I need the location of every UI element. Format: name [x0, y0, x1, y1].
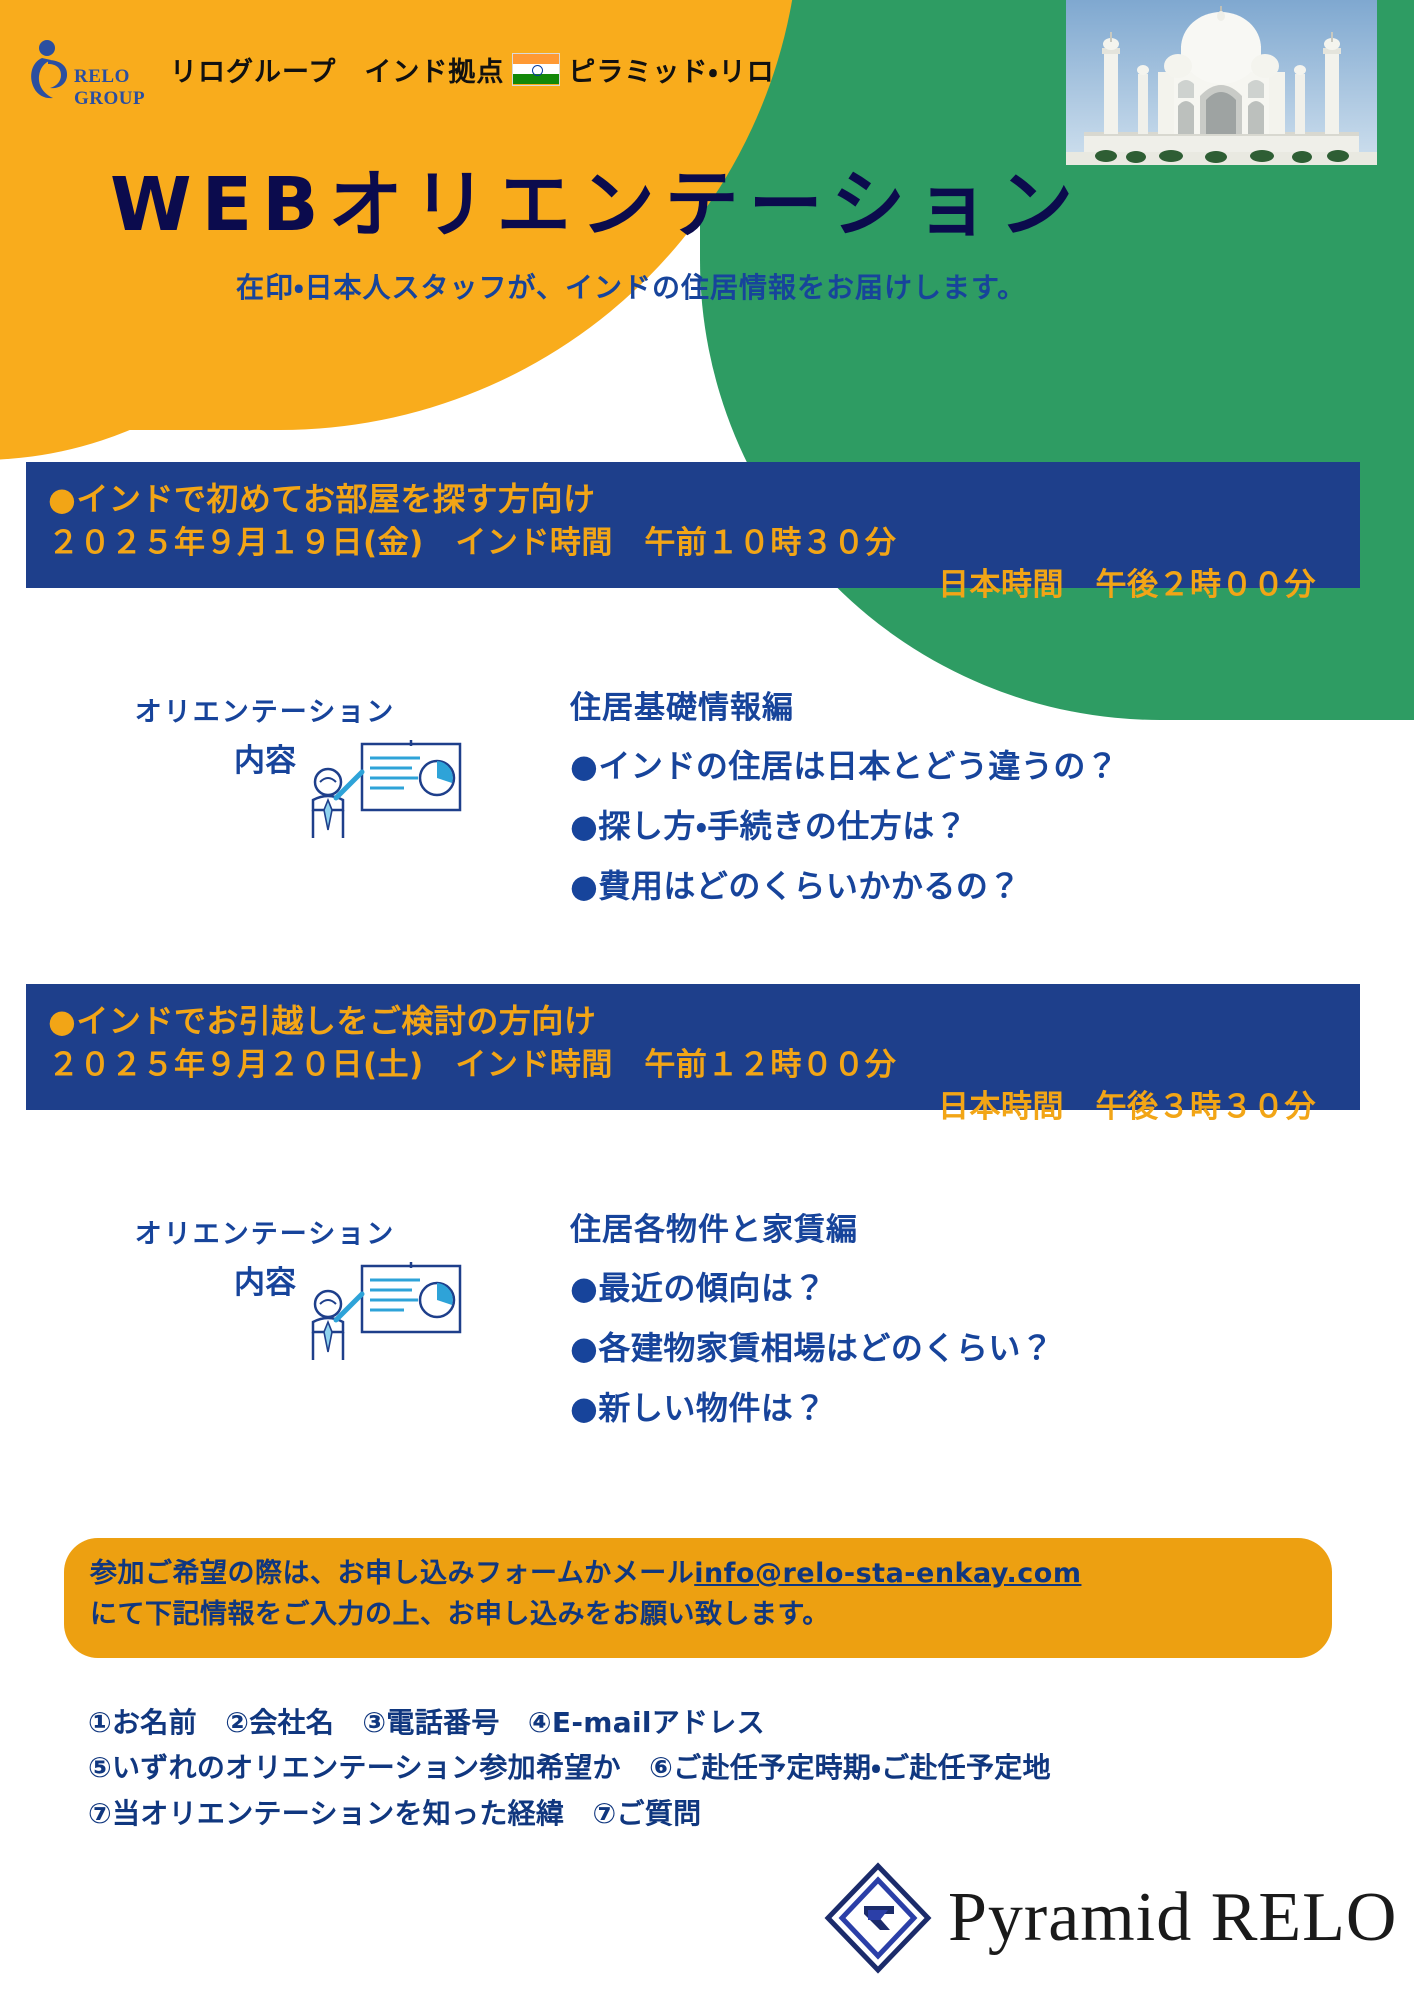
session-1-banner-line3: 日本時間 午後２時００分: [26, 564, 1360, 606]
page-subtitle: 在印・日本人スタッフが、インドの住居情報をお届けします。: [236, 266, 1026, 306]
session-1-details: 住居基礎情報編 ●インドの住居は日本とどう違うの？ ●探し方・手続きの仕方は？ …: [570, 682, 1118, 921]
required-info-line-2: ⑤いずれのオリエンテーション参加希望か ⑥ご赴任予定時期・ご赴任予定地: [88, 1745, 1051, 1790]
session-1-content-heading: 住居基礎情報編: [570, 682, 1118, 727]
session-1-bullet-3: ●費用はどのくらいかかるの？: [570, 861, 1118, 907]
session-2-label-top: オリエンテーション: [100, 1212, 430, 1251]
india-flag-icon: [512, 53, 560, 86]
session-2-content-heading: 住居各物件と家賃編: [570, 1204, 1053, 1249]
session-2-banner-line1: ●インドでお引越しをご検討の方向け: [26, 1000, 1360, 1044]
relo-group-wordmark: RELO GROUP: [74, 66, 156, 110]
presenter-board-illustration-1: [300, 738, 470, 868]
cta-line-2: にて下記情報をご入力の上、お申し込みをお願い致します。: [90, 1595, 1306, 1636]
session-1-label-top: オリエンテーション: [100, 690, 430, 729]
cta-line-1: 参加ご希望の際は、お申し込みフォームかメールinfo@relo-sta-enka…: [90, 1554, 1306, 1595]
taj-mahal-photo: [1066, 0, 1377, 165]
session-2-bullet-3: ●新しい物件は？: [570, 1383, 1053, 1429]
session-2-banner: ●インドでお引越しをご検討の方向け ２０２５年９月２０日(土) インド時間 午前…: [26, 984, 1360, 1110]
required-info-line-1: ①お名前 ②会社名 ③電話番号 ④E-mailアドレス: [88, 1700, 1051, 1745]
brand-row: RELO GROUP リログループ インド拠点 ピラミッド・リロ: [0, 34, 900, 104]
session-1-banner: ●インドで初めてお部屋を探す方向け ２０２５年９月１９日(金) インド時間 午前…: [26, 462, 1360, 588]
relo-group-logo: RELO GROUP: [26, 38, 156, 100]
session-1-banner-line1: ●インドで初めてお部屋を探す方向け: [26, 478, 1360, 522]
session-1-bullet-2: ●探し方・手続きの仕方は？: [570, 801, 1118, 847]
session-2-details: 住居各物件と家賃編 ●最近の傾向は？ ●各建物家賃相場はどのくらい？ ●新しい物…: [570, 1204, 1053, 1443]
session-2-bullet-2: ●各建物家賃相場はどのくらい？: [570, 1323, 1053, 1369]
application-cta-box: 参加ご希望の際は、お申し込みフォームかメールinfo@relo-sta-enka…: [64, 1538, 1332, 1658]
session-1-banner-line2: ２０２５年９月１９日(金) インド時間 午前１０時３０分: [26, 522, 1360, 564]
session-2-banner-line3: 日本時間 午後３時３０分: [26, 1086, 1360, 1128]
brand-text-left: リログループ インド拠点: [170, 50, 504, 89]
pyramid-relo-wordmark: Pyramid RELO: [948, 1878, 1397, 1958]
contact-email-link[interactable]: info@relo-sta-enkay.com: [694, 1558, 1081, 1589]
pyramid-relo-logo: Pyramid RELO: [824, 1862, 1397, 1974]
cta-text-before-email: 参加ご希望の際は、お申し込みフォームかメール: [90, 1558, 694, 1589]
pyramid-diamond-icon: [824, 1862, 932, 1974]
required-info-line-3: ⑦当オリエンテーションを知った経緯 ⑦ご質問: [88, 1791, 1051, 1836]
session-2-banner-line2: ２０２５年９月２０日(土) インド時間 午前１２時００分: [26, 1044, 1360, 1086]
presenter-board-illustration-2: [300, 1260, 470, 1390]
required-info-list: ①お名前 ②会社名 ③電話番号 ④E-mailアドレス ⑤いずれのオリエンテーシ…: [88, 1700, 1051, 1836]
page-title: WEBオリエンテーション: [110, 145, 1083, 252]
flyer-page: RELO GROUP リログループ インド拠点 ピラミッド・リロ WEBオリエン…: [0, 0, 1414, 2000]
brand-text-right: ピラミッド・リロ: [568, 50, 774, 89]
session-2-bullet-1: ●最近の傾向は？: [570, 1263, 1053, 1309]
session-1-bullet-1: ●インドの住居は日本とどう違うの？: [570, 741, 1118, 787]
